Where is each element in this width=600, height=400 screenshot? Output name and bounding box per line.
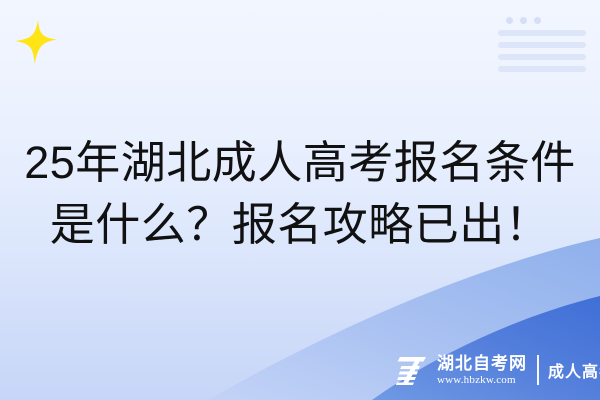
- logo-tagline: 成人高考: [548, 358, 600, 382]
- hbzkw-z-logo-icon: [396, 354, 430, 386]
- site-name: 湖北自考网: [437, 354, 527, 373]
- document-dot: [534, 17, 541, 24]
- document-dot: [506, 17, 513, 24]
- document-line: [498, 30, 586, 36]
- document-placeholder-graphic: [498, 12, 586, 72]
- document-dot: [520, 17, 527, 24]
- document-line: [498, 66, 586, 72]
- star-sparkle-icon: [12, 18, 60, 66]
- poster-canvas: 25年湖北成人高考报名条件 是什么？报名攻略已出！ 湖北自考网 www.hbzk…: [0, 0, 600, 400]
- site-logo-lockup: 湖北自考网 www.hbzkw.com 成人高考: [396, 350, 600, 390]
- document-line: [498, 42, 586, 48]
- headline-line-1: 25年湖北成人高考报名条件: [0, 132, 600, 194]
- site-url: www.hbzkw.com: [437, 373, 527, 387]
- logo-divider: [537, 355, 539, 385]
- document-lines-group: [498, 30, 586, 72]
- headline-block: 25年湖北成人高考报名条件 是什么？报名攻略已出！: [0, 132, 600, 256]
- site-logo-text: 湖北自考网 www.hbzkw.com: [437, 354, 527, 387]
- headline-line-2: 是什么？报名攻略已出！: [0, 194, 600, 256]
- document-dots-row: [498, 12, 586, 24]
- document-line: [498, 54, 586, 60]
